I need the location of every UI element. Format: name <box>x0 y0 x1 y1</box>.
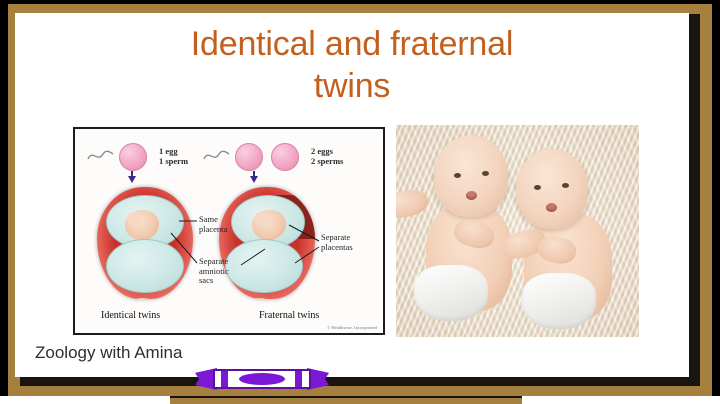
baby-eye <box>562 183 569 188</box>
identical-twins-uterus <box>97 187 193 299</box>
sperm-icon <box>203 145 237 165</box>
ornament-band <box>295 369 302 389</box>
label-identical-twins: Identical twins <box>101 310 160 321</box>
arrow-down-icon <box>128 176 136 183</box>
arrow-down-icon <box>250 176 258 183</box>
baby-eye <box>454 173 461 178</box>
fetus <box>252 210 286 240</box>
sperm-icon <box>87 145 121 165</box>
identical-vs-fraternal-twins-diagram: 1 egg 1 sperm 2 eggs 2 sperms <box>73 127 385 335</box>
baby-mouth <box>546 203 557 212</box>
baby-diaper <box>414 265 488 321</box>
fetus <box>125 298 159 299</box>
fraternal-twins-uterus <box>219 187 315 299</box>
fetus <box>242 298 276 299</box>
below-frame-center-bar <box>170 396 522 404</box>
below-frame-strip <box>0 396 720 404</box>
ornament-band <box>221 369 228 389</box>
label-two-eggs: 2 eggs 2 sperms <box>311 147 343 166</box>
label-separate-amniotic-sacs: Separate amniotic sacs <box>199 257 229 286</box>
page-title: Identical and fraternal twins <box>15 23 689 107</box>
baby-mouth <box>466 191 477 200</box>
diagram-copyright: © Healthwise, Incorporated <box>327 325 377 330</box>
slide-viewer: Identical and fraternal twins 1 egg 1 sp… <box>0 0 720 404</box>
egg-cell-icon <box>235 143 263 171</box>
label-one-egg: 1 egg 1 sperm <box>159 147 188 166</box>
label-same-placenta: Same placenta <box>199 215 227 234</box>
twin-babies-photo <box>396 125 639 337</box>
baby-eye <box>534 185 541 190</box>
amniotic-sac <box>106 239 184 293</box>
fetus <box>125 210 159 240</box>
label-separate-placentas: Separate placentas <box>321 233 353 252</box>
egg-cell-icon <box>119 143 147 171</box>
purple-ribbon-ornament <box>195 366 329 392</box>
label-fraternal-twins: Fraternal twins <box>259 310 319 321</box>
gamete-row: 1 egg 1 sperm 2 eggs 2 sperms <box>75 133 383 179</box>
baby-head <box>434 135 508 217</box>
diagram-canvas: 1 egg 1 sperm 2 eggs 2 sperms <box>75 129 383 333</box>
author-credit: Zoology with Amina <box>35 343 182 363</box>
ornament-pill <box>239 373 285 385</box>
amniotic-sac <box>225 239 303 293</box>
egg-cell-icon <box>271 143 299 171</box>
baby-diaper <box>522 273 596 329</box>
slide-canvas: Identical and fraternal twins 1 egg 1 sp… <box>15 13 689 377</box>
baby-eye <box>482 171 489 176</box>
baby-head <box>516 149 588 229</box>
